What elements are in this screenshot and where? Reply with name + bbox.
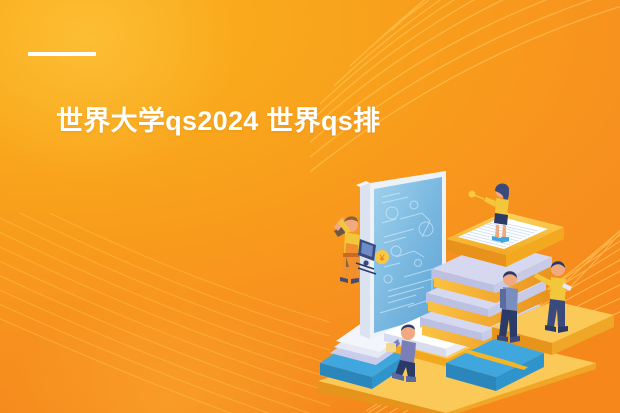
background-line-fan-top-right [310, 0, 620, 190]
isometric-education-books-illustration: ¥ [296, 167, 620, 413]
title-rule [28, 52, 96, 56]
svg-text:¥: ¥ [378, 253, 385, 263]
page-title: 世界大学qs2024 世界qs排 [56, 104, 576, 138]
promo-banner: 世界大学qs2024 世界qs排 [0, 0, 620, 413]
